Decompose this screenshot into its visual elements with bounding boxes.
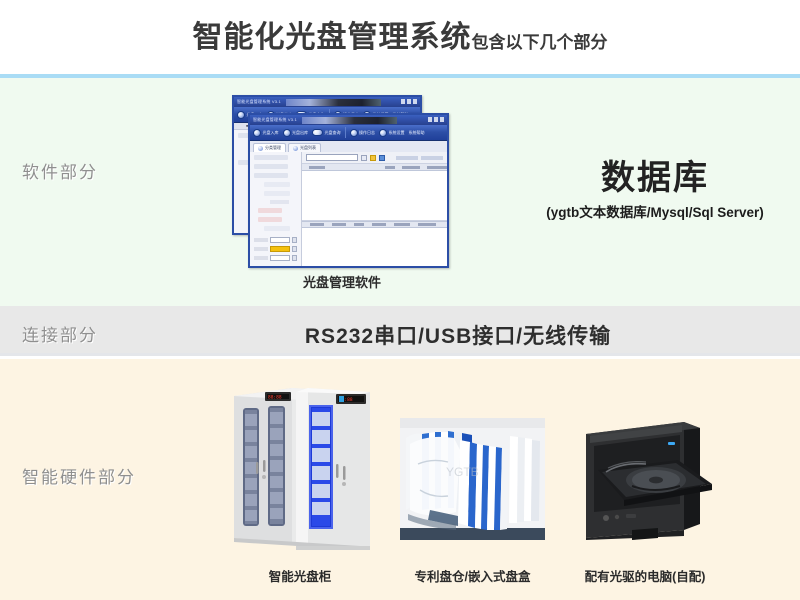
- form-row[interactable]: [254, 237, 297, 243]
- form-label: [254, 256, 268, 260]
- tree-item[interactable]: [258, 217, 282, 222]
- grid-body-secondary[interactable]: [302, 228, 447, 266]
- window-controls[interactable]: [428, 117, 444, 122]
- window-tabs[interactable]: 分类管理 光盘列表: [250, 141, 447, 152]
- toolbar-label-1: 光盘出库: [292, 130, 308, 136]
- form-picker-button[interactable]: [292, 255, 297, 261]
- page-title: 智能化光盘管理系统: [193, 23, 472, 53]
- window-titlebar: 智能光盘管理系统 V3.1: [250, 115, 447, 125]
- window-left-panel: [250, 152, 302, 266]
- tree-note: [270, 200, 289, 204]
- tab-category[interactable]: 分类管理: [253, 143, 286, 152]
- page-subtitle: 包含以下几个部分: [472, 34, 608, 51]
- hardware-caption-pc: 配有光驱的电脑(自配): [560, 566, 730, 585]
- form-input[interactable]: [270, 255, 290, 261]
- tab-label-0: 分类管理: [265, 145, 281, 151]
- window-title-strip: [302, 117, 397, 124]
- category-tree[interactable]: [250, 152, 301, 234]
- toolbar-button-log[interactable]: 操作日志: [350, 129, 376, 137]
- tab-label-1: 光盘列表: [300, 145, 316, 151]
- toolbar-button-in[interactable]: 光盘入库: [253, 129, 279, 137]
- search-icon[interactable]: [361, 155, 367, 161]
- search-meta: [396, 156, 443, 160]
- window-body: [250, 152, 447, 266]
- window-title-strip: [286, 99, 381, 106]
- toolbar-label-0: 光盘入库: [263, 130, 279, 136]
- connection-text: RS232串口/USB接口/无线传输: [248, 320, 668, 350]
- page-header: 智能化光盘管理系统 包含以下几个部分: [0, 0, 800, 76]
- software-caption: 光盘管理软件: [232, 272, 452, 291]
- grid-body[interactable]: [302, 171, 447, 221]
- search-bar[interactable]: [302, 152, 447, 164]
- hardware-caption-cabinet: 智能光盘柜: [210, 566, 390, 585]
- tree-item[interactable]: [264, 226, 290, 231]
- toolbar-button-out[interactable]: 光盘出库: [283, 129, 309, 137]
- window-controls[interactable]: [401, 99, 417, 104]
- tree-item[interactable]: [254, 164, 288, 169]
- computer-with-optical-drive-image: [572, 412, 718, 540]
- grid-header: [302, 164, 447, 171]
- svg-text:88:88: 88:88: [268, 395, 282, 401]
- form-row-highlighted[interactable]: [254, 246, 297, 252]
- tree-item[interactable]: [264, 182, 290, 187]
- infographic-page: 智能化光盘管理系统 包含以下几个部分 软件部分 智能光盘管理系统 V3.1 光盘…: [0, 0, 800, 600]
- detail-form[interactable]: [250, 234, 301, 268]
- form-label: [254, 238, 268, 242]
- software-section-label: 软件部分: [22, 158, 98, 183]
- window-main-panel: [302, 152, 447, 266]
- disc-icon[interactable]: [379, 155, 385, 161]
- svg-text:YGTB: YGTB: [446, 465, 479, 479]
- database-subtitle: (ygtb文本数据库/Mysql/Sql Server): [520, 201, 790, 221]
- window-title-text: 智能光盘管理系统 V3.1: [253, 117, 297, 123]
- software-window-front[interactable]: 智能光盘管理系统 V3.1 光盘入库 光盘出库 光盘查询 操作日志 系统设置 系…: [248, 113, 449, 268]
- window-titlebar: 智能光盘管理系统 V3.1: [234, 97, 420, 107]
- tab-disc-list[interactable]: 光盘列表: [288, 143, 321, 152]
- tree-item[interactable]: [264, 191, 290, 196]
- toolbar-label-4: 系统设置: [389, 130, 405, 136]
- tab-icon: [293, 146, 298, 151]
- form-label: [254, 247, 268, 251]
- tree-item[interactable]: [254, 173, 288, 178]
- grid-header-secondary: [302, 221, 447, 228]
- toolbar-label-5: 系统帮助: [409, 130, 425, 136]
- search-input[interactable]: [306, 154, 358, 161]
- database-block: 数据库 (ygtb文本数据库/Mysql/Sql Server): [520, 160, 790, 221]
- tree-item[interactable]: [254, 155, 288, 160]
- form-checkbox[interactable]: [254, 266, 284, 268]
- hardware-section-label: 智能硬件部分: [22, 463, 136, 488]
- window-title-text: 智能光盘管理系统 V3.1: [237, 99, 281, 105]
- connection-section-label: 连接部分: [22, 321, 98, 346]
- form-input-highlight[interactable]: [270, 246, 290, 252]
- form-input[interactable]: [270, 237, 290, 243]
- tab-icon: [258, 146, 263, 151]
- folder-icon[interactable]: [370, 155, 376, 161]
- database-title: 数据库: [520, 160, 790, 197]
- disc-tray-image: YGTB: [400, 418, 545, 540]
- toolbar-label-2: 光盘查询: [325, 130, 341, 136]
- smart-disc-cabinet-image: 88:88 88:88: [210, 378, 390, 553]
- toolbar-button-settings[interactable]: 系统设置: [379, 129, 405, 137]
- hardware-caption-tray: 专利盘仓/嵌入式盘盒: [395, 566, 550, 585]
- toolbar-button-help[interactable]: 系统帮助: [409, 130, 425, 136]
- toolbar-separator: [345, 127, 346, 138]
- tree-item[interactable]: [258, 208, 282, 213]
- software-screenshot: 智能光盘管理系统 V3.1 光盘入库 光盘出库 光盘查询 操作日志 系统设置 系…: [232, 95, 452, 270]
- toolbar-button-query[interactable]: 光盘查询: [312, 129, 341, 136]
- form-picker-button[interactable]: [292, 237, 297, 243]
- form-row[interactable]: [254, 255, 297, 261]
- window-toolbar[interactable]: 光盘入库 光盘出库 光盘查询 操作日志 系统设置 系统帮助: [250, 125, 447, 141]
- form-picker-button[interactable]: [292, 246, 297, 252]
- toolbar-label-3: 操作日志: [359, 130, 375, 136]
